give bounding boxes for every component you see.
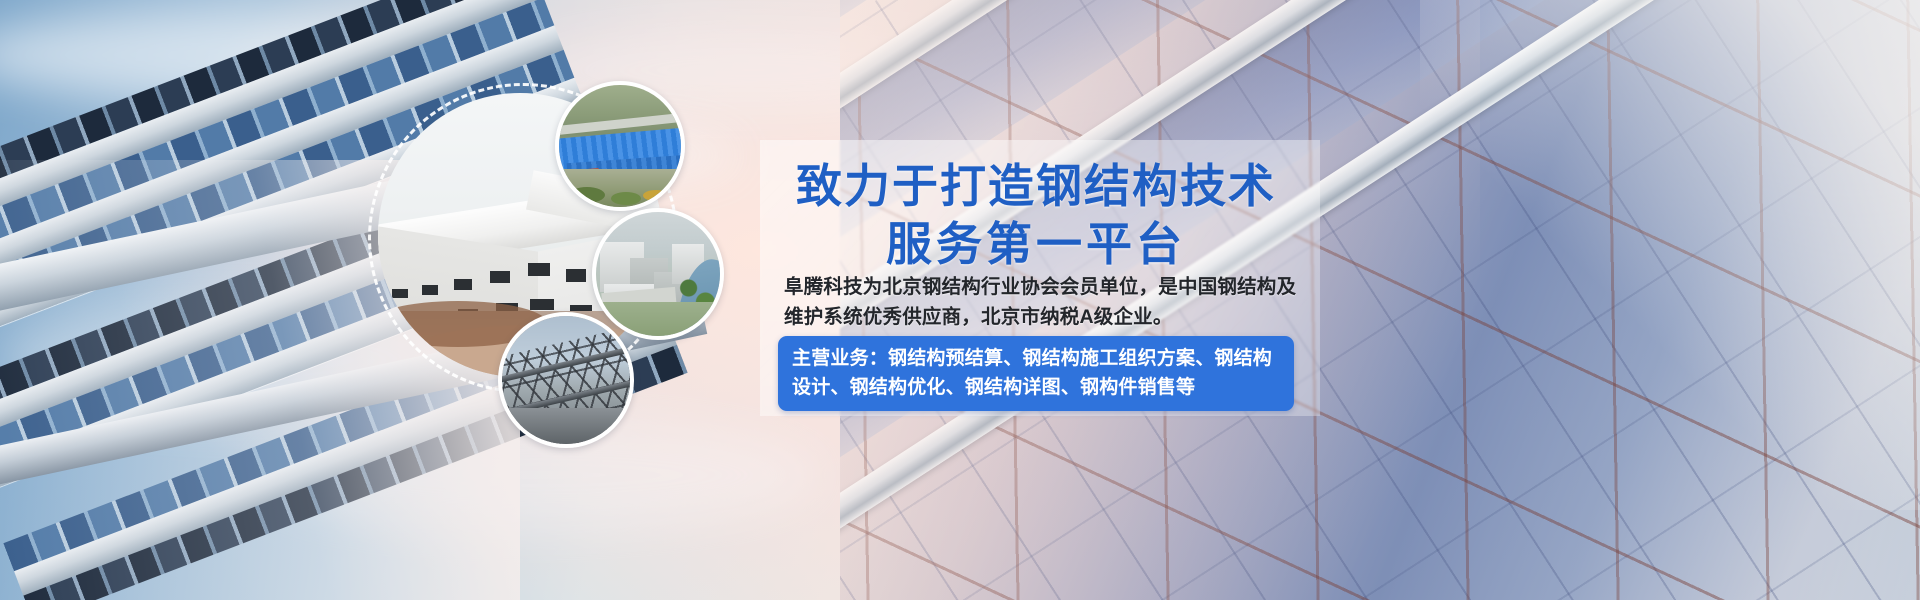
circle-photo-factory: [555, 81, 685, 211]
headline-line-2: 服务第一平台: [760, 216, 1312, 274]
business-scope-box: 主营业务：钢结构预结算、钢结构施工组织方案、钢结构设计、钢结构优化、钢结构详图、…: [778, 336, 1294, 411]
description-text: 阜腾科技为北京钢结构行业协会会员单位，是中国钢结构及维护系统优秀供应商，北京市纳…: [784, 272, 1300, 332]
headline: 致力于打造钢结构技术 服务第一平台: [760, 158, 1312, 274]
headline-line-1: 致力于打造钢结构技术: [760, 158, 1312, 216]
circle-photo-steel-truss: [498, 312, 634, 448]
hero-banner: 致力于打造钢结构技术 服务第一平台 阜腾科技为北京钢结构行业协会会员单位，是中国…: [0, 0, 1920, 600]
